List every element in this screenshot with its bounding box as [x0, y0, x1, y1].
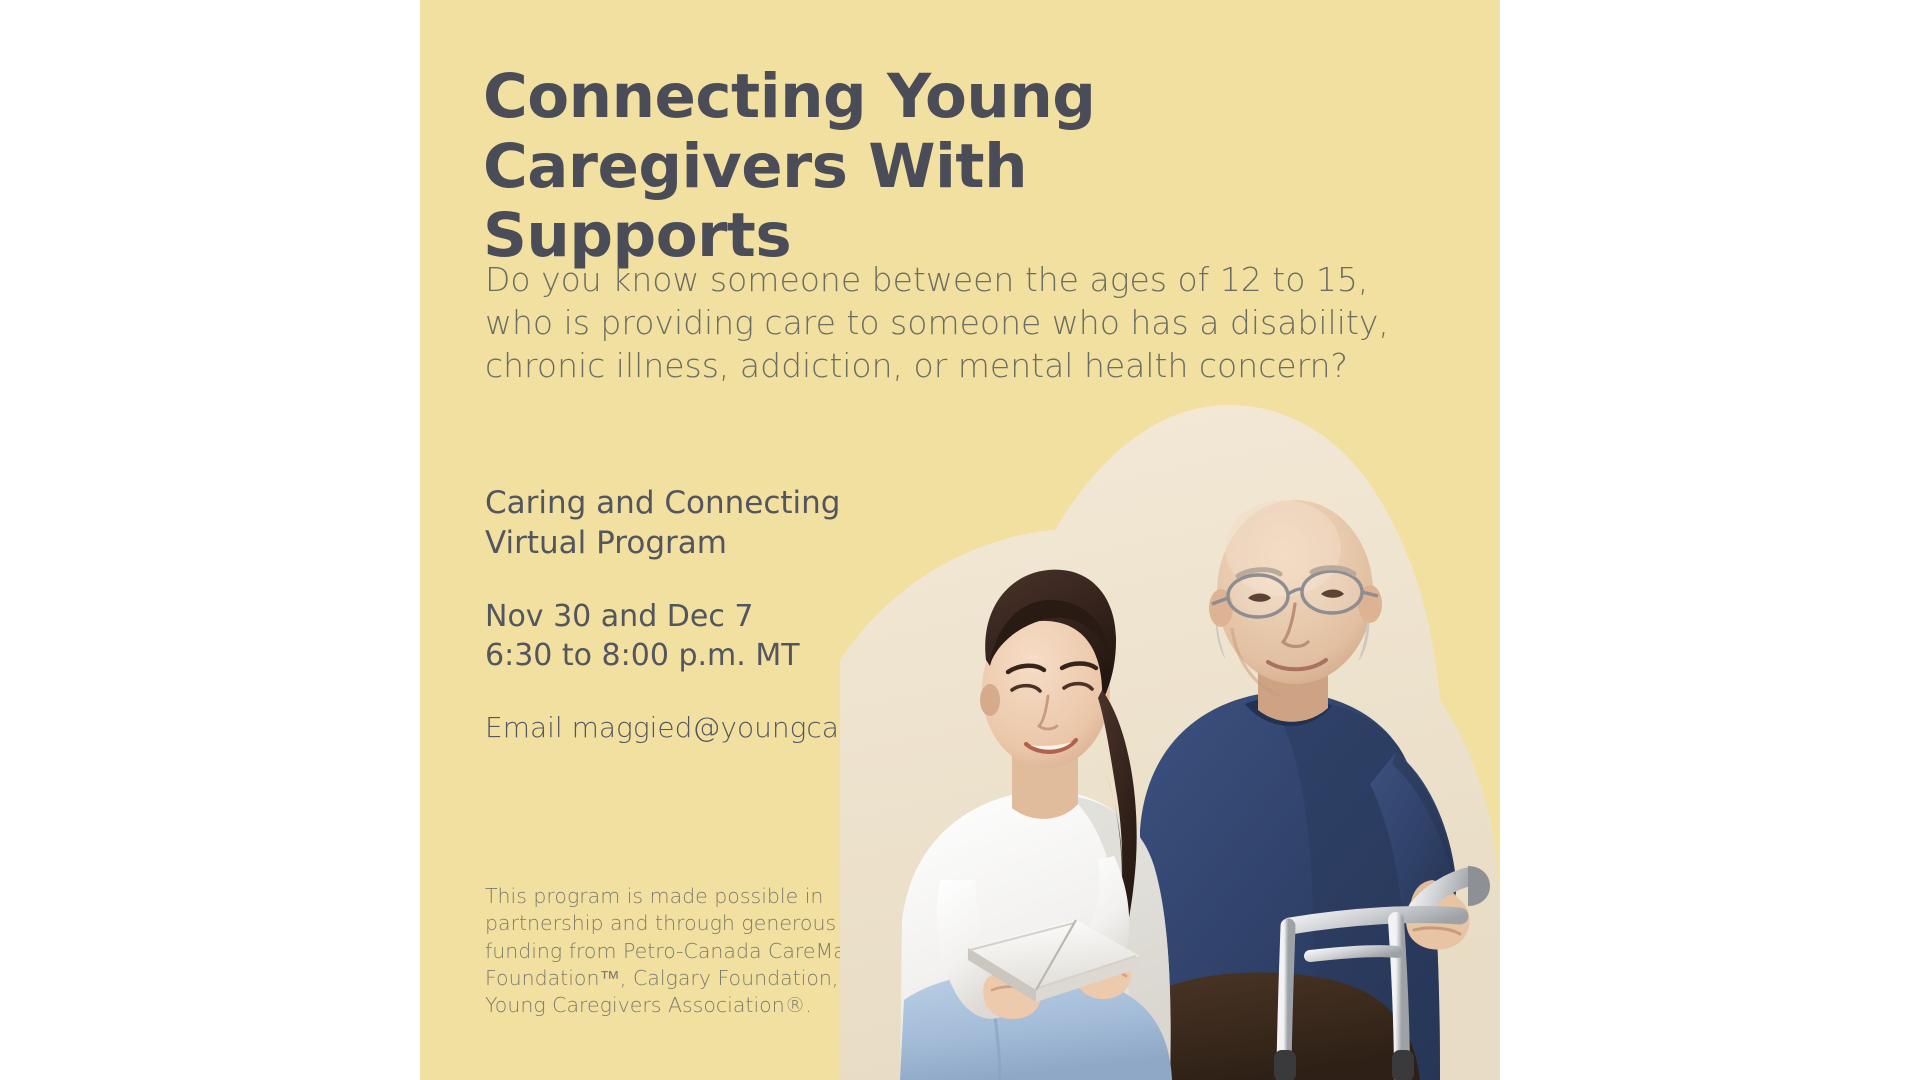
program-time: 6:30 to 8:00 p.m. MT	[485, 636, 800, 675]
page-title: Connecting Young Caregivers With Support…	[483, 62, 1273, 271]
caregiver-photo	[840, 360, 1500, 1080]
subheadline-line-2: who is providing care to someone who has…	[485, 301, 1305, 344]
headline-line-2: Caregivers With Supports	[483, 132, 1273, 271]
program-name-line-2: Virtual Program	[485, 524, 840, 564]
program-schedule: Nov 30 and Dec 7 6:30 to 8:00 p.m. MT	[485, 597, 800, 675]
subheadline-line-1: Do you know someone between the ages of …	[485, 258, 1305, 301]
program-name-line-1: Caring and Connecting	[485, 484, 840, 524]
poster-panel: Connecting Young Caregivers With Support…	[420, 0, 1500, 1080]
program-name: Caring and Connecting Virtual Program	[485, 484, 840, 563]
headline-line-1: Connecting Young	[483, 62, 1273, 132]
poster-canvas: Connecting Young Caregivers With Support…	[0, 0, 1920, 1080]
program-dates: Nov 30 and Dec 7	[485, 597, 800, 636]
